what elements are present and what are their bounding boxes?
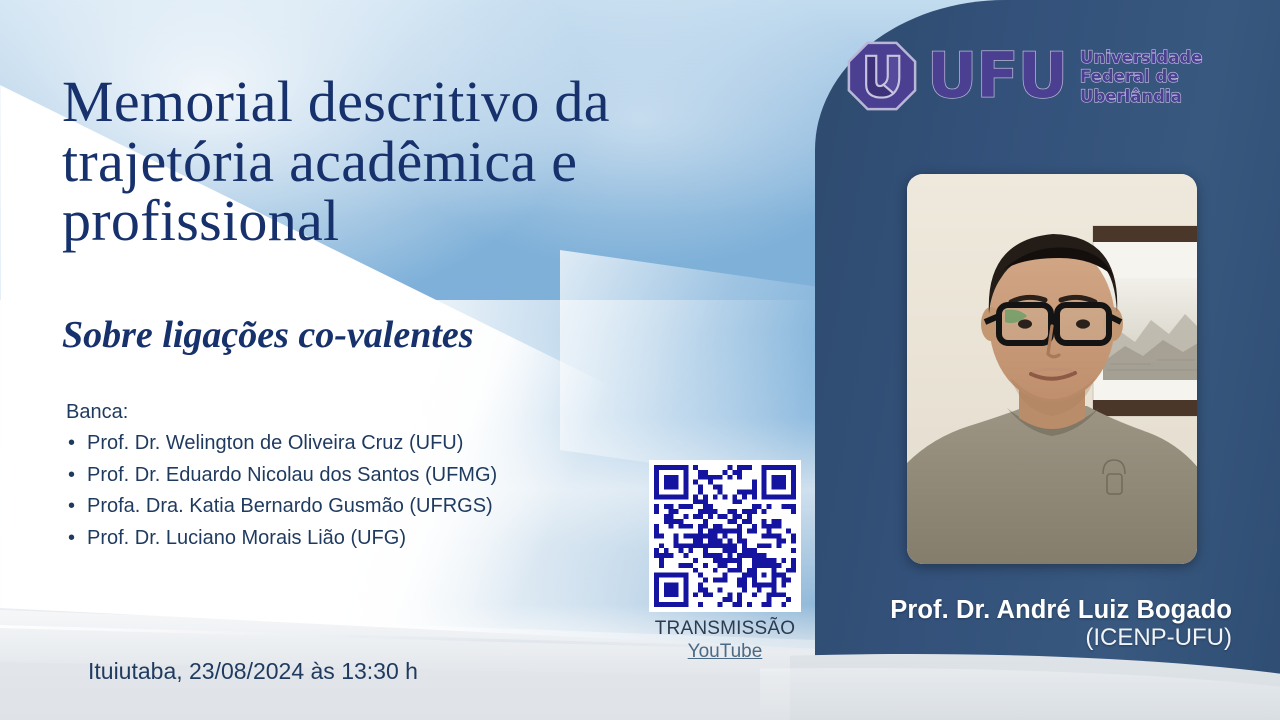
ufu-acronym: UFU xyxy=(927,48,1067,104)
list-item: • Prof. Dr. Eduardo Nicolau dos Santos (… xyxy=(66,460,686,492)
banca-member-name: Prof. Dr. Eduardo Nicolau dos Santos (UF… xyxy=(87,460,497,492)
list-item: • Prof. Dr. Luciano Morais Lião (UFG) xyxy=(66,523,686,555)
banca-list: • Prof. Dr. Welington de Oliveira Cruz (… xyxy=(66,428,686,554)
banca-member-name: Profa. Dra. Katia Bernardo Gusmão (UFRGS… xyxy=(87,491,493,523)
broadcast-block: TRANSMISSÃO YouTube xyxy=(645,460,805,663)
banca-section: Banca: • Prof. Dr. Welington de Oliveira… xyxy=(66,398,686,554)
presenter-name: Prof. Dr. André Luiz Bogado xyxy=(828,596,1232,624)
presenter-affiliation: (ICENP-UFU) xyxy=(828,624,1232,652)
banca-label: Banca: xyxy=(66,398,686,427)
presenter-photo-frame xyxy=(907,174,1197,564)
ufu-logo: UFU Universidade Federal de Uberlândia xyxy=(846,40,1202,112)
bullet-icon: • xyxy=(66,428,77,460)
bullet-icon: • xyxy=(66,491,77,523)
banca-member-name: Prof. Dr. Luciano Morais Lião (UFG) xyxy=(87,523,406,555)
event-date: Ituiutaba, 23/08/2024 às 13:30 h xyxy=(88,658,418,685)
ufu-fullname-line1: Universidade xyxy=(1080,48,1202,67)
list-item: • Prof. Dr. Welington de Oliveira Cruz (… xyxy=(66,428,686,460)
bullet-icon: • xyxy=(66,460,77,492)
list-item: • Profa. Dra. Katia Bernardo Gusmão (UFR… xyxy=(66,491,686,523)
slide-subtitle: Sobre ligações co-valentes xyxy=(62,316,762,354)
presenter-caption: Prof. Dr. André Luiz Bogado (ICENP-UFU) xyxy=(828,596,1232,652)
ufu-fullname-line2: Federal de xyxy=(1080,67,1202,86)
ufu-octagon-emblem-icon xyxy=(846,40,918,112)
ufu-fullname-line3: Uberlândia xyxy=(1080,87,1202,106)
presenter-portrait xyxy=(907,174,1197,564)
slide-headline: Memorial descritivo da trajetória acadêm… xyxy=(62,72,762,251)
bullet-icon: • xyxy=(66,523,77,555)
ufu-fullname: Universidade Federal de Uberlândia xyxy=(1080,48,1202,106)
youtube-link[interactable]: YouTube xyxy=(645,641,805,663)
broadcast-caption: TRANSMISSÃO xyxy=(645,618,805,640)
qr-code[interactable] xyxy=(649,460,801,612)
banca-member-name: Prof. Dr. Welington de Oliveira Cruz (UF… xyxy=(87,428,463,460)
presentation-slide: UFU Universidade Federal de Uberlândia M… xyxy=(0,0,1280,720)
